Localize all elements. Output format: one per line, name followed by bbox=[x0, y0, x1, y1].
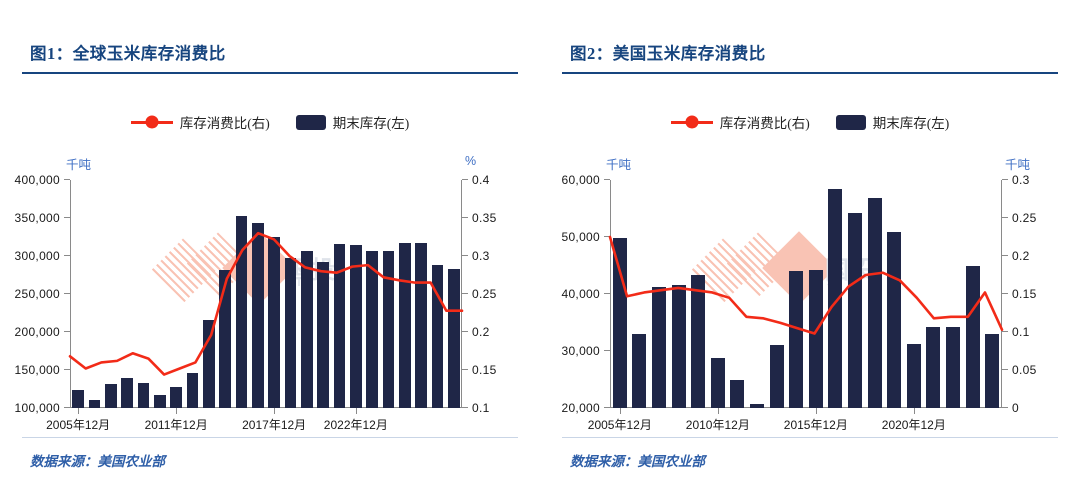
x-axis-tick-label: 2011年12月 bbox=[145, 416, 208, 433]
legend-label: 期末库存(左) bbox=[333, 112, 410, 132]
plot-area: 千吨千吨国投SI20,00030,00040,00050,00060,00000… bbox=[540, 140, 1080, 440]
y2-axis-tick bbox=[1002, 293, 1008, 294]
title-divider bbox=[22, 72, 518, 74]
legend-line-marker-icon bbox=[671, 121, 713, 124]
y2-axis-tick bbox=[1002, 217, 1008, 218]
legend-bar-swatch-icon bbox=[836, 115, 866, 130]
x-axis-tick bbox=[78, 408, 79, 414]
y-axis-tick-label: 250,000 bbox=[15, 287, 60, 301]
y2-axis-tick bbox=[462, 331, 468, 332]
legend-item: 库存消费比(右) bbox=[131, 112, 270, 132]
figure-panel-2: 图2：美国玉米库存消费比数据来源：美国农业部库存消费比(右)期末库存(左)千吨千… bbox=[540, 0, 1080, 486]
legend-item: 期末库存(左) bbox=[296, 112, 410, 132]
y2-axis-tick-label: 0.15 bbox=[1012, 287, 1037, 301]
legend-item: 期末库存(左) bbox=[836, 112, 950, 132]
y2-axis-tick-label: 0.3 bbox=[472, 249, 490, 263]
chart-legend: 库存消费比(右)期末库存(左) bbox=[540, 112, 1080, 132]
y-axis-tick-label: 150,000 bbox=[15, 363, 60, 377]
figures-page: 图1：全球玉米库存消费比数据来源：美国农业部库存消费比(右)期末库存(左)千吨%… bbox=[0, 0, 1080, 486]
y2-axis-tick-label: 0.3 bbox=[1012, 173, 1030, 187]
y2-axis-tick-label: 0.1 bbox=[1012, 325, 1030, 339]
plot-area: 千吨%国投SI100,000150,000200,000250,000300,0… bbox=[0, 140, 540, 440]
source-note: 数据来源：美国农业部 bbox=[30, 450, 165, 470]
y-axis-tick-label: 50,000 bbox=[561, 230, 600, 244]
y2-axis-unit-label: 千吨 bbox=[1005, 154, 1030, 173]
legend-item: 库存消费比(右) bbox=[671, 112, 810, 132]
y-axis-unit-label: 千吨 bbox=[66, 154, 91, 173]
legend-label: 库存消费比(右) bbox=[720, 112, 810, 132]
figure-title: 图2：美国玉米库存消费比 bbox=[570, 40, 766, 64]
x-axis-tick-label: 2005年12月 bbox=[588, 416, 652, 433]
y-axis-tick-label: 60,000 bbox=[561, 173, 600, 187]
y2-axis-tick bbox=[462, 217, 468, 218]
plot-canvas: 国投SI100,000150,000200,000250,000300,0003… bbox=[70, 180, 462, 408]
x-axis-tick bbox=[718, 408, 719, 414]
y-axis-tick-label: 30,000 bbox=[561, 344, 600, 358]
y-axis-tick-label: 300,000 bbox=[15, 249, 60, 263]
chart-legend: 库存消费比(右)期末库存(左) bbox=[0, 112, 540, 132]
legend-label: 期末库存(左) bbox=[873, 112, 950, 132]
y-axis-unit-label: 千吨 bbox=[606, 154, 631, 173]
y2-axis-tick-label: 0.25 bbox=[1012, 211, 1037, 225]
figure-panel-1: 图1：全球玉米库存消费比数据来源：美国农业部库存消费比(右)期末库存(左)千吨%… bbox=[0, 0, 540, 486]
y2-axis-tick-label: 0.35 bbox=[472, 211, 497, 225]
y2-axis-tick bbox=[462, 179, 468, 180]
x-axis-tick bbox=[914, 408, 915, 414]
title-divider bbox=[562, 72, 1058, 74]
y2-axis-tick-label: 0.05 bbox=[1012, 363, 1037, 377]
y2-axis-tick-label: 0.2 bbox=[472, 325, 490, 339]
y2-axis-tick bbox=[1002, 255, 1008, 256]
x-axis-tick bbox=[816, 408, 817, 414]
y2-axis-tick bbox=[462, 369, 468, 370]
plot-canvas: 国投SI20,00030,00040,00050,00060,00000.050… bbox=[610, 180, 1002, 408]
y-axis-tick-label: 20,000 bbox=[561, 401, 600, 415]
y2-axis-tick bbox=[1002, 407, 1008, 408]
y2-axis-tick bbox=[1002, 331, 1008, 332]
line-series bbox=[70, 180, 462, 408]
y2-axis-tick-label: 0.25 bbox=[472, 287, 497, 301]
y2-axis-tick-label: 0.1 bbox=[472, 401, 490, 415]
y2-axis-tick bbox=[1002, 369, 1008, 370]
x-axis-tick-label: 2015年12月 bbox=[784, 416, 848, 433]
x-axis-tick bbox=[356, 408, 357, 414]
y2-axis-tick bbox=[462, 407, 468, 408]
legend-label: 库存消费比(右) bbox=[180, 112, 270, 132]
x-axis-tick-label: 2017年12月 bbox=[242, 416, 306, 433]
source-note: 数据来源：美国农业部 bbox=[570, 450, 705, 470]
y2-axis-tick-label: 0 bbox=[1012, 401, 1019, 415]
y-axis-tick-label: 200,000 bbox=[15, 325, 60, 339]
y2-axis-tick-label: 0.2 bbox=[1012, 249, 1030, 263]
x-axis-tick bbox=[274, 408, 275, 414]
figure-title: 图1：全球玉米库存消费比 bbox=[30, 40, 226, 64]
x-axis-tick-label: 2020年12月 bbox=[882, 416, 946, 433]
x-axis-tick-label: 2022年12月 bbox=[324, 416, 388, 433]
y-axis-tick-label: 40,000 bbox=[561, 287, 600, 301]
y-axis-tick-label: 350,000 bbox=[15, 211, 60, 225]
y2-axis-tick-label: 0.4 bbox=[472, 173, 490, 187]
y2-axis-tick bbox=[1002, 179, 1008, 180]
legend-line-marker-icon bbox=[131, 121, 173, 124]
y2-axis-tick-label: 0.15 bbox=[472, 363, 497, 377]
x-axis-tick bbox=[176, 408, 177, 414]
y2-axis-tick bbox=[462, 255, 468, 256]
x-axis-tick-label: 2010年12月 bbox=[686, 416, 750, 433]
y2-axis-unit-label: % bbox=[465, 154, 476, 168]
line-series bbox=[610, 180, 1002, 408]
y2-axis-tick bbox=[462, 293, 468, 294]
y-axis-tick-label: 100,000 bbox=[15, 401, 60, 415]
legend-bar-swatch-icon bbox=[296, 115, 326, 130]
x-axis-tick-label: 2005年12月 bbox=[46, 416, 110, 433]
x-axis-tick bbox=[620, 408, 621, 414]
y-axis-tick-label: 400,000 bbox=[15, 173, 60, 187]
